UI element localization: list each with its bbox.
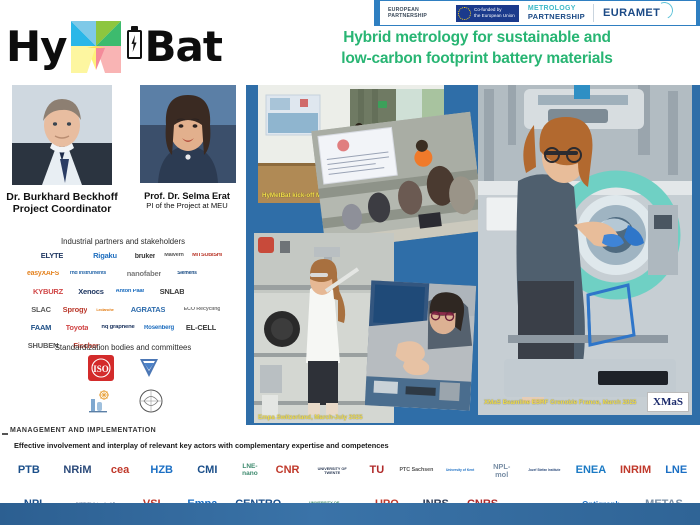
industrial-partner-logo: AGRATAS: [120, 302, 176, 318]
industrial-partner-logo: ECO Recycling: [180, 302, 224, 318]
industrial-partner-logo: Malvern: [162, 248, 186, 264]
industrial-partner-logo: Leclanche: [94, 302, 116, 318]
institution-logo-label: PTB: [18, 465, 40, 477]
logo-text-right: Bat: [145, 22, 222, 71]
person-coordinator: Dr. Burkhard Beckhoff Project Coordinato…: [0, 191, 124, 215]
industrial-partner-logo: FAAM: [26, 320, 56, 336]
institution-logo-label: University of Kent: [446, 469, 474, 472]
industrial-partner-logo: ELYTE: [26, 248, 78, 264]
partner-logo-label: easyXAFS: [27, 271, 59, 278]
photo-beamline: XMaS Beamline ESRF Grenoble France, Marc…: [478, 85, 692, 415]
partner-logo-label: AGRATAS: [131, 306, 166, 314]
partner-logo-label: nanofaber: [127, 270, 161, 278]
management-heading: MANAGEMENT AND IMPLEMENTATION: [10, 427, 156, 434]
battery-bolt-icon: [125, 26, 144, 60]
euramet-label: EURAMET: [603, 7, 660, 19]
institution-logo: LNE-nano: [235, 457, 265, 485]
portraits-group: [0, 85, 246, 195]
institution-logo: PTC Sachsen: [399, 457, 433, 485]
partner-logo-label: Toyota: [66, 324, 89, 332]
institution-logo: CMI: [189, 457, 225, 485]
institution-logo: ENEA: [572, 457, 610, 485]
partner-logo-label: Rosenberg: [144, 325, 174, 331]
institution-logo: NPL-mol: [487, 457, 517, 485]
cen-cenelec-logo: [138, 388, 164, 419]
industrial-partner-logo: Anton Paar: [112, 284, 148, 300]
industrial-partner-logo: nanofaber: [116, 266, 172, 282]
photo-collage: HyMetBat kick-off Meeting Berlin, July 2…: [246, 85, 700, 425]
standardization-grid: ISO: [60, 355, 190, 419]
photo-caption-empa: Empa Switzerland, March-July 2025: [258, 414, 363, 421]
industrial-partner-logo: KYBURZ: [26, 284, 70, 300]
standardization-heading: Standardization bodies and committees: [0, 343, 246, 352]
people-names: Dr. Burkhard Beckhoff Project Coordinato…: [0, 191, 246, 231]
industrial-partner-logo: Rigaku: [82, 248, 128, 264]
institution-logo: LNE: [661, 457, 691, 485]
eu-cofund-line2: the European Union: [474, 13, 515, 19]
partner-logo-label: rhd instruments: [70, 271, 107, 276]
iec-logo: [86, 388, 112, 419]
management-subheading: Effective involvement and interplay of r…: [14, 441, 389, 450]
iso-logo: ISO: [88, 355, 114, 386]
partner-logo-label: SLAC: [31, 306, 51, 314]
institution-logo: INRIM: [620, 457, 652, 485]
partner-logo-label: ECO Recycling: [184, 307, 221, 313]
institution-logo-label: NPL-mol: [487, 463, 517, 479]
partner-logo-label: MITSUBISHI: [192, 253, 222, 259]
industrial-partners-heading: Industrial partners and stakeholders: [0, 237, 246, 246]
euramet-logo: EURAMET: [603, 7, 660, 19]
institution-logo-label: Jozef Stefan Institute: [528, 469, 560, 472]
person-pi: Prof. Dr. Selma Erat PI of the Project a…: [128, 191, 246, 210]
partner-logo-label: EL-CELL: [186, 324, 216, 332]
eu-cofund-badge: Co-funded by the European Union: [456, 5, 519, 22]
partner-logo-label: FAAM: [31, 324, 51, 332]
title-line-1: Hybrid metrology for sustainable and: [272, 28, 682, 49]
institution-logo-label: LNE-nano: [235, 464, 265, 478]
footer-band: [0, 503, 700, 525]
person-role: Project Coordinator: [0, 203, 124, 215]
industrial-partners-grid: ELYTERigakubrukerMalvernMITSUBISHIeasyXA…: [24, 247, 226, 355]
industrial-partner-logo: Xenocs: [74, 284, 108, 300]
eu-stars-icon: [458, 7, 471, 20]
institution-logo-label: TU: [369, 465, 384, 477]
industrial-partner-logo: Rosenberg: [142, 320, 176, 336]
institution-logo-label: cea: [111, 465, 129, 477]
topbar-logos: EUROPEAN PARTNERSHIP Co-funded by the Eu…: [380, 1, 696, 25]
partner-logo-label: Rigaku: [93, 252, 117, 260]
partner-logo-label: SNLAB: [160, 288, 185, 296]
hymetbat-logo: Hy Bat: [6, 10, 246, 82]
industrial-partner-logo: bruker: [132, 248, 158, 264]
person-name: Prof. Dr. Selma Erat: [128, 191, 246, 201]
institution-logo: TU: [364, 457, 390, 485]
institution-logo-label: INRIM: [620, 465, 651, 477]
institution-logo-label: ENEA: [576, 465, 607, 477]
xmas-logo-badge: XMaS: [647, 392, 689, 412]
institution-logo: University of Kent: [443, 457, 477, 485]
industrial-partner-logo: hq graphene: [98, 320, 138, 336]
institution-logo-label: CMI: [197, 465, 217, 477]
institution-logo: UNIVERSITY OF TWENTE: [310, 457, 354, 485]
bullet-dash: [2, 433, 8, 435]
institution-logo: PTB: [9, 457, 49, 485]
institution-logo: Jozef Stefan Institute: [526, 457, 562, 485]
photo-lecture-audience: [311, 112, 484, 251]
partner-logo-label: Sprogy: [63, 306, 88, 314]
institution-logo-label: CNR: [276, 465, 300, 477]
header-divider: [593, 4, 594, 22]
institution-logo-label: NRiM: [63, 465, 91, 477]
bowtie-prism-icon: [65, 15, 127, 77]
partner-logo-label: Malvern: [164, 253, 183, 259]
industrial-partner-logo: rhd instruments: [64, 266, 112, 282]
industrial-partner-logo: EL-CELL: [180, 320, 222, 336]
institution-logo: NRiM: [58, 457, 96, 485]
person-name: Dr. Burkhard Beckhoff: [0, 191, 124, 203]
poster-root: EUROPEAN PARTNERSHIP Co-funded by the Eu…: [0, 0, 700, 525]
industrial-partner-logo: Sprogy: [60, 302, 90, 318]
partner-logo-label: bruker: [135, 253, 156, 260]
logo-text-left: Hy: [6, 22, 67, 71]
partner-logo-label: KYBURZ: [33, 288, 63, 296]
institution-logo-label: LNE: [665, 465, 687, 477]
institution-logo-label: PTC Sachsen: [400, 468, 434, 474]
institution-logo: CNR: [275, 457, 301, 485]
partner-logo-label: Anton Paar: [116, 289, 145, 295]
svg-text:ISO: ISO: [93, 364, 109, 374]
page-title: Hybrid metrology for sustainable and low…: [272, 28, 682, 70]
industrial-partner-logo: Toyota: [60, 320, 94, 336]
person-role: PI of the Project at MEU: [128, 201, 246, 210]
institution-logo: HZB: [144, 457, 180, 485]
partner-logo-row-1: PTBNRiMceaHZBCMILNE-nanoCNRUNIVERSITY OF…: [4, 453, 696, 489]
institution-logo-label: UNIVERSITY OF TWENTE: [310, 467, 354, 475]
institution-logo-label: HZB: [150, 465, 173, 477]
industrial-partner-logo: MITSUBISHI: [190, 248, 224, 264]
vamas-logo: [136, 355, 162, 386]
partner-logo-label: Xenocs: [78, 288, 103, 296]
metrology-line2: PARTNERSHIP: [528, 13, 585, 22]
institution-logo: cea: [106, 457, 134, 485]
title-line-2: low-carbon footprint battery materials: [272, 49, 682, 70]
portrait-pi: [140, 85, 236, 183]
partner-logo-label: hq graphene: [101, 325, 134, 331]
metrology-partnership-logo: METROLOGY PARTNERSHIP: [528, 5, 585, 22]
industrial-partner-logo: easyXAFS: [26, 266, 60, 282]
photo-caption-beamline: XMaS Beamline ESRF Grenoble France, Marc…: [484, 399, 636, 406]
industrial-partner-logo: SNLAB: [152, 284, 192, 300]
partner-logo-label: Siemens: [177, 271, 197, 276]
european-partnership-label: EUROPEAN PARTNERSHIP: [388, 7, 450, 20]
photo-glovebox-hands: [365, 280, 476, 410]
portrait-coordinator: [12, 85, 112, 185]
industrial-partner-logo: Siemens: [176, 266, 198, 282]
industrial-partner-logo: SLAC: [26, 302, 56, 318]
partner-logo-label: Leclanche: [96, 308, 113, 312]
partner-logo-label: ELYTE: [41, 252, 63, 260]
left-column: Dr. Burkhard Beckhoff Project Coordinato…: [0, 85, 246, 425]
